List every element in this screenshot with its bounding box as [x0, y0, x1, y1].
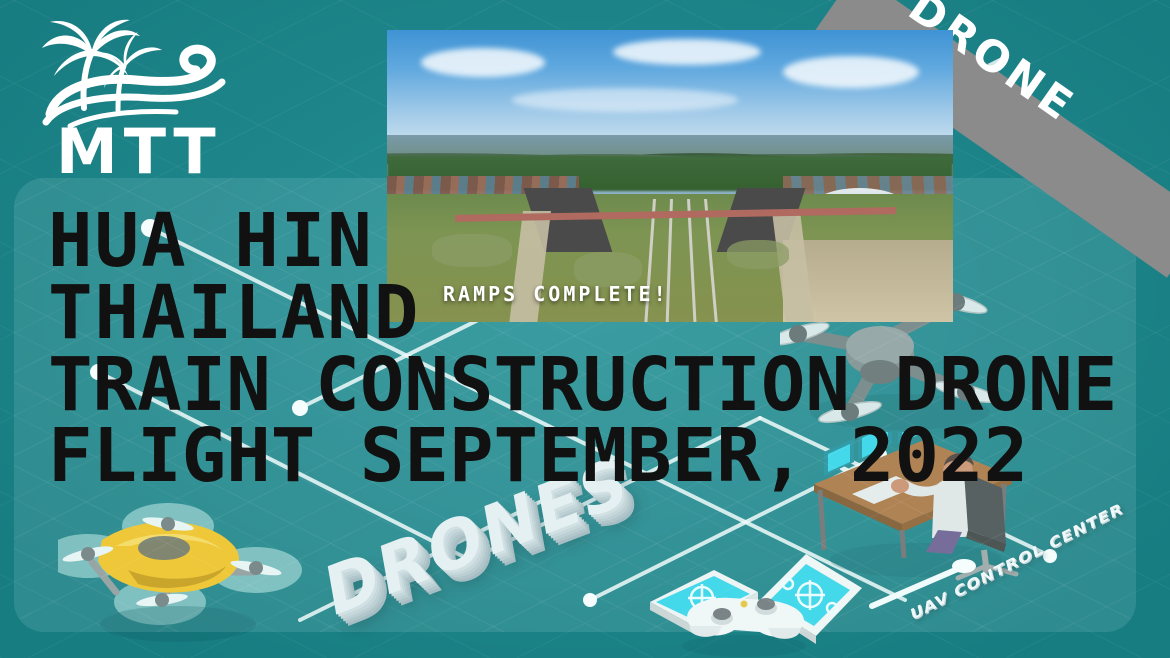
title-line-2: THAILAND — [48, 278, 1108, 350]
photo-cloud — [421, 48, 546, 77]
mtt-logo[interactable]: MTT — [26, 18, 238, 173]
thumbnail-canvas: DRONES — [0, 0, 1170, 658]
title-line-1: HUA HIN — [48, 206, 1108, 278]
mtt-wordmark: MTT — [56, 121, 222, 183]
palm-wave-icon — [26, 18, 238, 130]
title-line-4: FLIGHT SEPTEMBER, 2022 — [48, 421, 1108, 493]
photo-cloud — [613, 39, 760, 65]
page-title: HUA HIN THAILAND TRAIN CONSTRUCTION DRON… — [48, 206, 1108, 493]
photo-cloud — [512, 88, 738, 111]
title-line-3: TRAIN CONSTRUCTION DRONE — [48, 350, 1108, 422]
